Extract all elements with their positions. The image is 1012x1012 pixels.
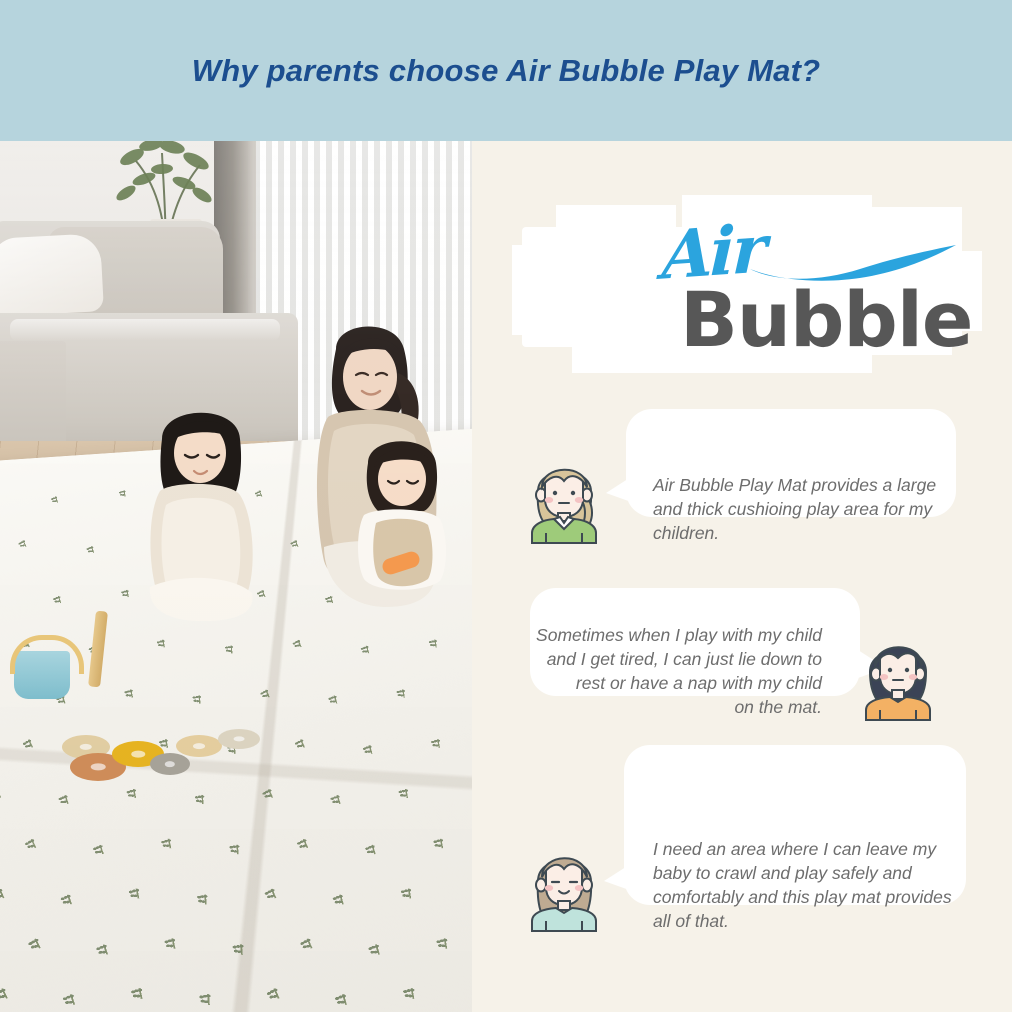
mat-leaf-motif — [194, 795, 211, 805]
avatar-testimonial-1 — [528, 453, 600, 545]
mat-leaf-motif — [229, 844, 247, 854]
mat-leaf-motif — [398, 789, 415, 799]
mat-leaf-motif — [0, 787, 8, 801]
mat-leaf-motif — [123, 689, 139, 698]
testimonial-1-text: Air Bubble Play Mat provides a large and… — [653, 473, 963, 545]
mat-leaf-motif — [362, 744, 379, 755]
mat-leaf-motif — [298, 936, 320, 951]
mat-leaf-motif — [332, 893, 352, 906]
quote-line: Air Bubble Play Mat provides a large — [653, 473, 963, 497]
mat-leaf-motif — [435, 938, 455, 949]
mat-leaf-motif — [24, 836, 44, 851]
infographic-page: Why parents choose Air Bubble Play Mat? — [0, 0, 1012, 1012]
mat-leaf-motif — [266, 985, 289, 1001]
mat-leaf-motif — [296, 836, 316, 850]
mat-leaf-motif — [161, 838, 179, 849]
page-title: Why parents choose Air Bubble Play Mat? — [192, 53, 820, 89]
quote-line: and I get tired, I can just lie down to — [502, 647, 822, 671]
quote-line: rest or have a nap with my child — [502, 671, 822, 695]
speech-bubble-tail — [606, 475, 634, 503]
mat-leaf-motif — [428, 639, 443, 647]
mat-leaf-motif — [367, 943, 388, 956]
mat-leaf-motif — [163, 938, 183, 950]
mat-leaf-motif — [263, 886, 284, 901]
quote-line: children. — [653, 521, 963, 545]
photo-toy-ring — [218, 729, 260, 749]
speech-bubble-tail — [604, 863, 632, 891]
mat-leaf-motif — [334, 993, 356, 1007]
mat-leaf-motif — [17, 538, 31, 548]
mat-leaf-motif — [402, 988, 423, 1000]
avatar-testimonial-3 — [528, 841, 600, 933]
mat-leaf-motif — [291, 638, 307, 649]
mat-leaf-motif — [329, 794, 347, 806]
quote-line: baby to crawl and play safely and — [653, 861, 983, 885]
testimonial-3-text: I need an area where I can leave my baby… — [653, 837, 983, 933]
mat-leaf-motif — [364, 843, 383, 855]
mat-leaf-motif — [198, 994, 219, 1006]
brand-logo: Air Bubble — [512, 191, 972, 391]
mat-leaf-motif — [57, 793, 75, 805]
mat-leaf-motif — [50, 495, 63, 503]
mat-leaf-motif — [0, 687, 4, 699]
mat-leaf-motif — [121, 589, 135, 597]
quote-line: all of that. — [653, 909, 983, 933]
mat-leaf-motif — [156, 639, 171, 648]
mat-leaf-motif — [85, 545, 99, 554]
mat-leaf-motif — [400, 888, 419, 899]
header-banner: Why parents choose Air Bubble Play Mat? — [0, 0, 1012, 141]
mat-leaf-motif — [130, 987, 151, 999]
mat-leaf-motif — [294, 737, 312, 750]
logo-word-bubble: Bubble — [680, 275, 972, 364]
mat-leaf-motif — [126, 788, 144, 798]
mat-leaf-motif — [259, 687, 276, 699]
right-panel: Air Bubble — [472, 141, 1012, 1012]
mat-leaf-motif — [0, 985, 16, 1002]
quote-line: Sometimes when I play with my child — [502, 623, 822, 647]
mat-leaf-motif — [52, 595, 67, 605]
photo-girl — [140, 391, 260, 621]
mat-leaf-motif — [118, 490, 130, 497]
mat-leaf-motif — [59, 893, 79, 906]
mat-leaf-motif — [0, 886, 12, 901]
photo-sofa-cushion — [0, 233, 104, 317]
mat-leaf-motif — [92, 843, 111, 856]
mat-leaf-motif — [196, 894, 215, 905]
avatar-testimonial-2 — [862, 630, 934, 722]
mat-leaf-motif — [191, 695, 207, 704]
mat-leaf-motif — [395, 689, 411, 698]
quote-line: comfortably and this play mat provides — [653, 885, 983, 909]
photo-toy-ring — [176, 735, 222, 757]
mat-leaf-motif — [62, 992, 84, 1006]
mat-leaf-motif — [224, 645, 239, 653]
quote-line: on the mat. — [502, 695, 822, 719]
mat-leaf-motif — [430, 739, 446, 748]
mat-leaf-motif — [261, 787, 280, 800]
photo-baby — [352, 423, 450, 593]
photo-sofa-highlight — [10, 319, 280, 341]
mat-leaf-motif — [231, 944, 251, 955]
lifestyle-photo — [0, 141, 472, 1012]
content-area: Air Bubble — [0, 141, 1012, 1012]
quote-line: I need an area where I can leave my — [653, 837, 983, 861]
testimonial-2-text: Sometimes when I play with my child and … — [502, 623, 822, 719]
mat-leaf-motif — [95, 943, 116, 957]
mat-leaf-motif — [22, 737, 40, 750]
mat-leaf-motif — [26, 936, 48, 952]
photo-toy-ring — [150, 753, 190, 775]
quote-line: and thick cushioing play area for my — [653, 497, 963, 521]
mat-leaf-motif — [360, 645, 375, 655]
mat-leaf-motif — [327, 694, 343, 704]
mat-leaf-motif — [433, 838, 451, 848]
logo-lockup: Air Bubble — [512, 191, 972, 391]
mat-leaf-motif — [128, 888, 147, 899]
